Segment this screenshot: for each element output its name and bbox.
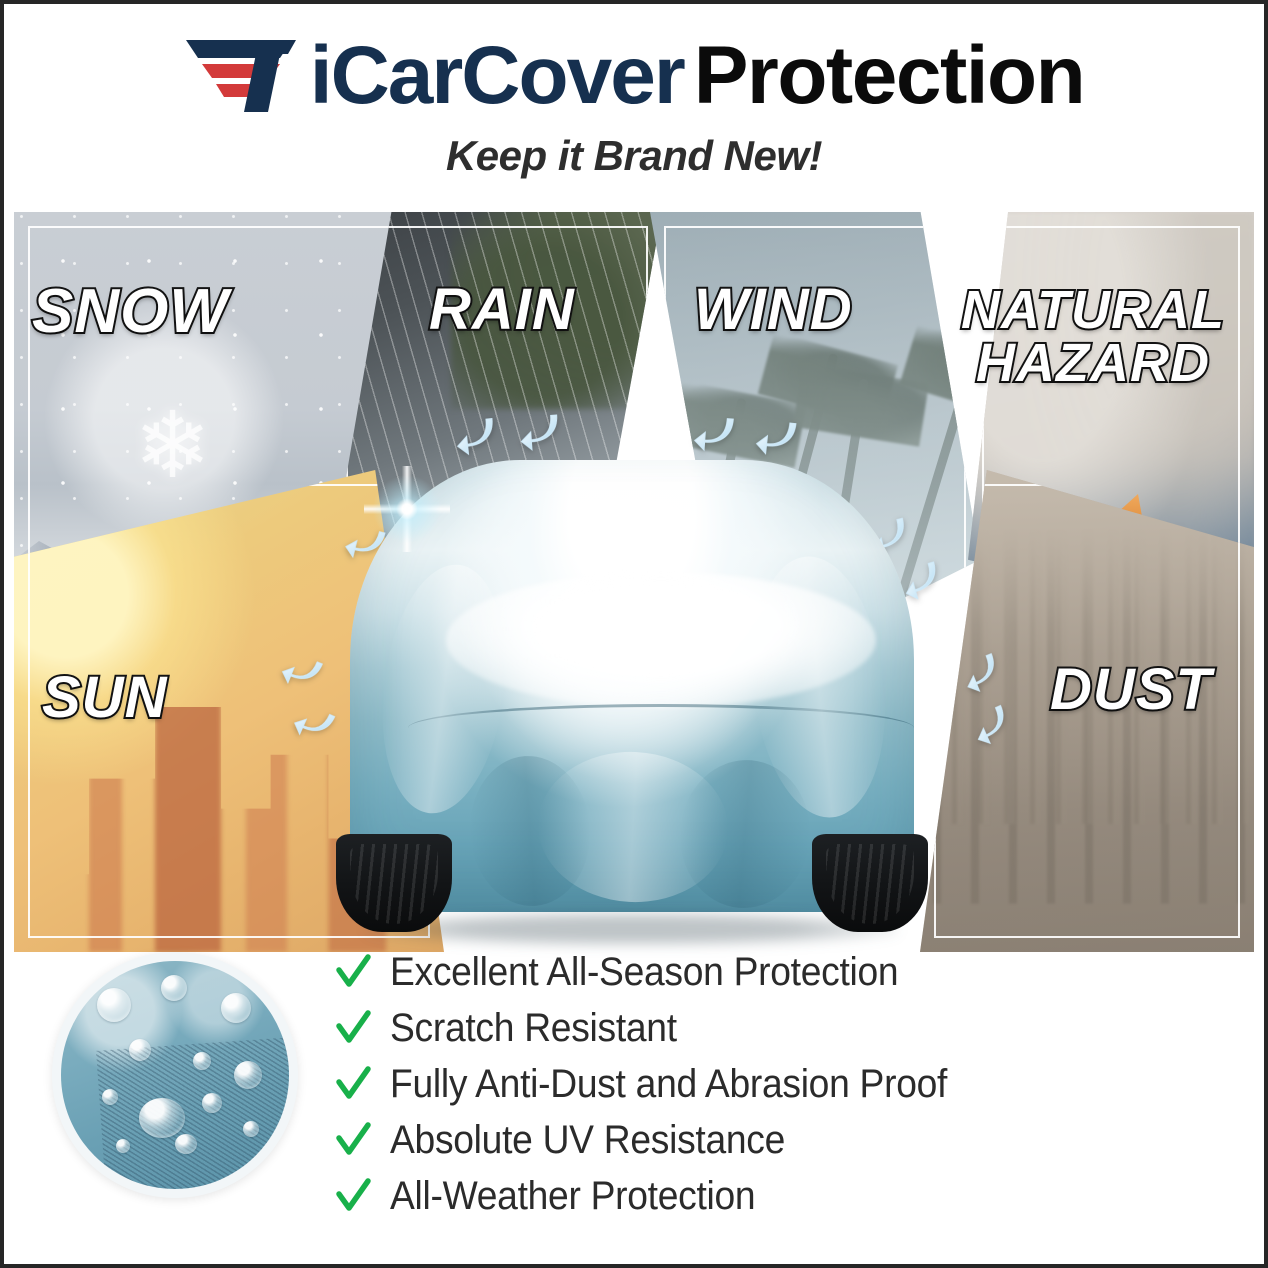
swatch-image — [61, 961, 289, 1189]
feature-item: All-Weather Protection — [334, 1168, 1222, 1224]
feature-item: Scratch Resistant — [334, 1000, 1222, 1056]
header: iCarCover Protection Keep it Brand New! — [4, 4, 1264, 202]
check-icon — [334, 1065, 372, 1103]
feature-item: Excellent All-Season Protection — [334, 944, 1222, 1000]
feature-label: Fully Anti-Dust and Abrasion Proof — [390, 1062, 947, 1107]
subtitle: Keep it Brand New! — [446, 132, 822, 180]
feature-list: Excellent All-Season ProtectionScratch R… — [334, 940, 1222, 1224]
car-cover-body — [322, 442, 942, 942]
check-icon — [334, 1009, 372, 1047]
feature-label: All-Weather Protection — [390, 1174, 755, 1219]
feature-label: Excellent All-Season Protection — [390, 950, 898, 995]
icarcover-wing-logo-icon — [184, 34, 304, 118]
panel-label-wind: WIND — [694, 282, 853, 339]
features-section: Excellent All-Season ProtectionScratch R… — [52, 940, 1222, 1240]
product-infographic: iCarCover Protection Keep it Brand New! … — [0, 0, 1268, 1268]
snowflake-icon: ❄ — [134, 400, 211, 492]
wheel-right — [812, 834, 928, 932]
page-title: Protection — [694, 35, 1084, 117]
check-icon — [334, 1177, 372, 1215]
panel-label-rain: RAIN — [429, 282, 575, 339]
water-beading-fabric-swatch — [52, 952, 298, 1198]
shine-sparkle-icon — [364, 466, 450, 552]
feature-label: Absolute UV Resistance — [390, 1118, 785, 1163]
feature-item: Absolute UV Resistance — [334, 1112, 1222, 1168]
panel-label-dust: DUST — [1050, 662, 1212, 719]
wheel-left — [336, 834, 452, 932]
brand-name: iCarCover — [310, 35, 684, 117]
title-row: iCarCover Protection — [184, 30, 1084, 122]
panel-label-sun: SUN — [42, 670, 167, 727]
check-icon — [334, 1121, 372, 1159]
panel-label-snow: SNOW — [32, 282, 229, 343]
feature-label: Scratch Resistant — [390, 1006, 677, 1051]
car-cover-product — [322, 442, 942, 962]
feature-item: Fully Anti-Dust and Abrasion Proof — [334, 1056, 1222, 1112]
panel-label-natural-hazard: NATURAL HAZARD — [952, 284, 1234, 390]
check-icon — [334, 953, 372, 991]
